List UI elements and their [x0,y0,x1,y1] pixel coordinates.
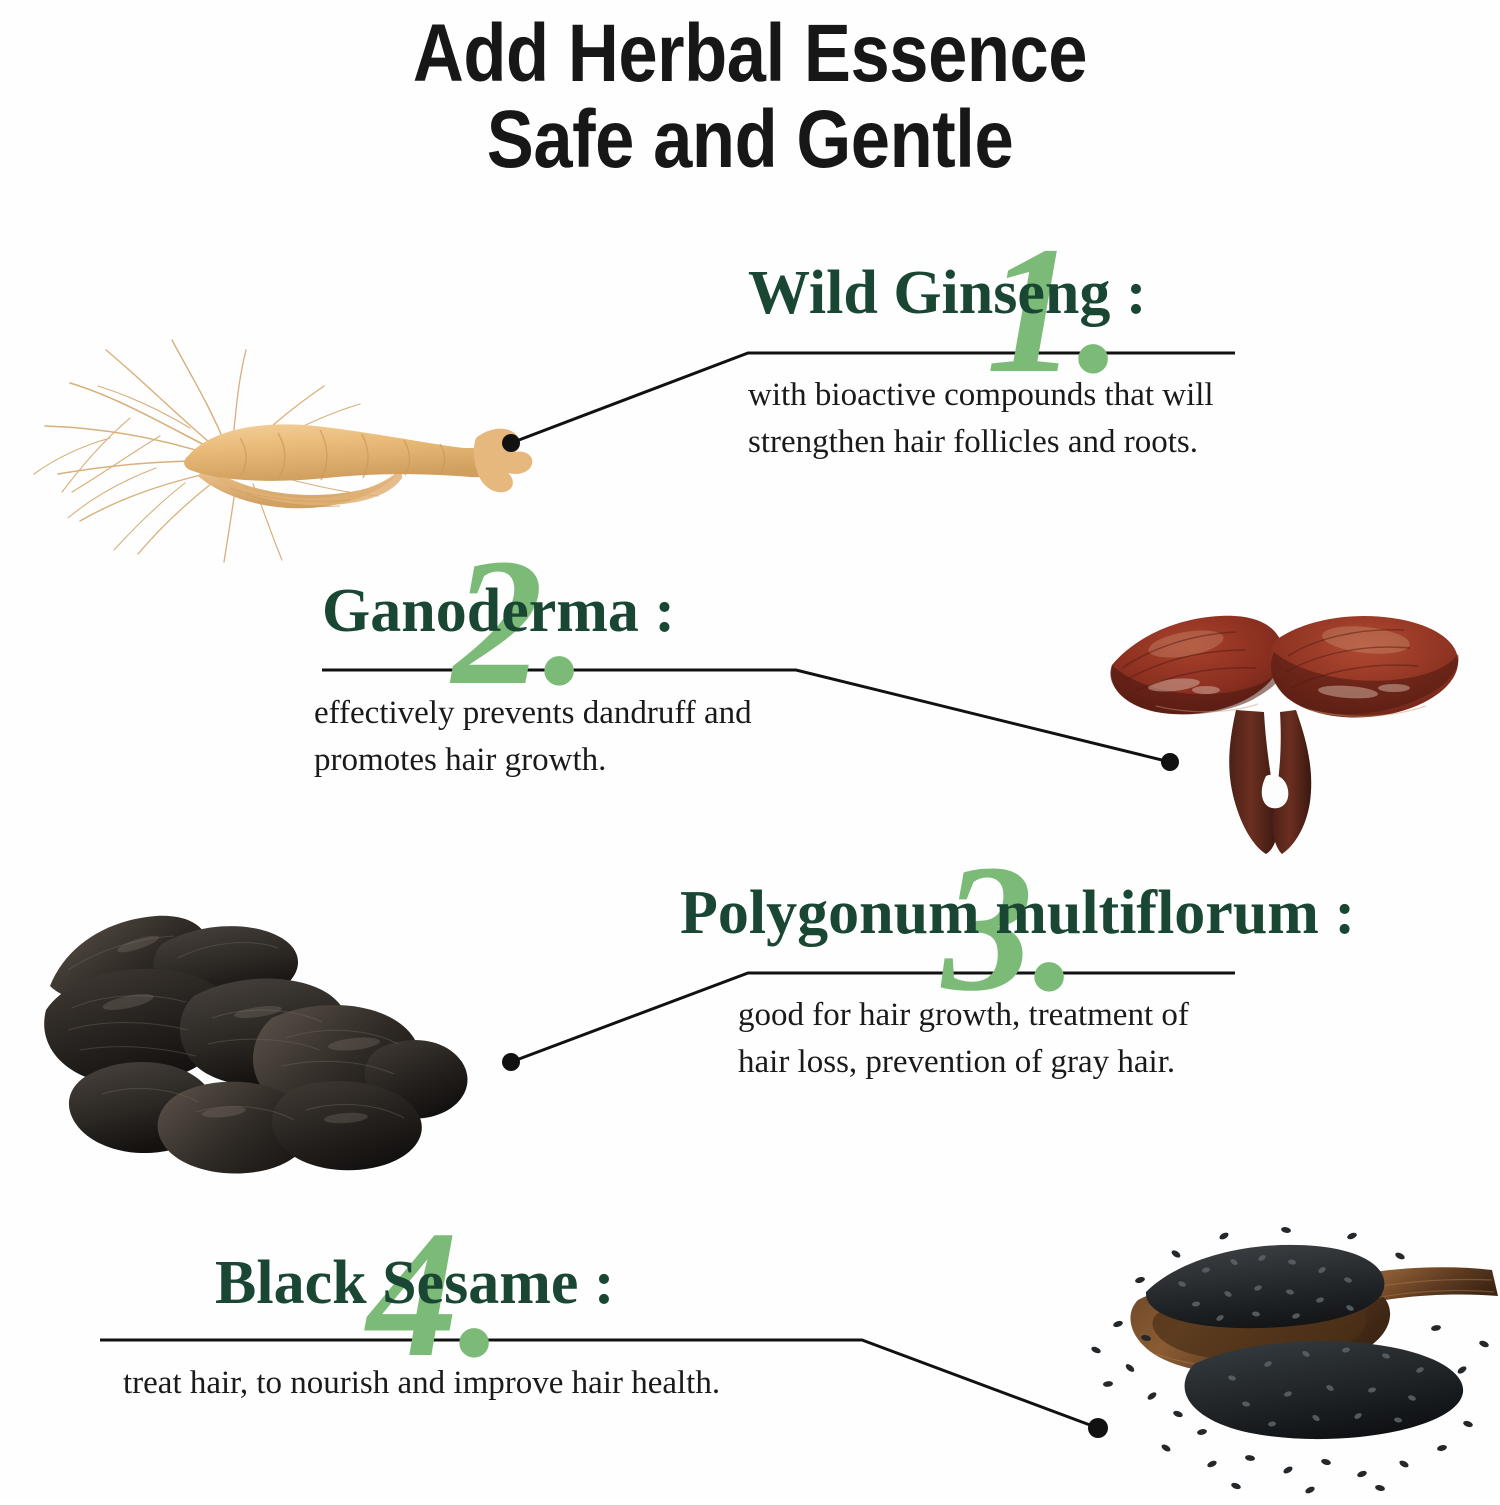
ganoderma-image [1060,560,1500,860]
section-1-description-line-1: with bioactive compounds that will [748,372,1268,419]
section-4-heading-wrap: 4. Black Sesame : [215,1252,835,1314]
section-2-heading-wrap: 2. Ganoderma : [322,580,842,642]
section-1-description-line-2: strengthen hair follicles and roots. [748,419,1268,466]
section-1-description: with bioactive compounds that will stren… [748,372,1268,466]
ingredient-section-1: 1. Wild Ginseng : with bioactive compoun… [748,262,1268,466]
page-title: Add Herbal Essence Safe and Gentle [0,14,1500,181]
title-line-2: Safe and Gentle [105,100,1395,180]
section-2-title: Ganoderma : [322,580,842,642]
ingredient-section-2: 2. Ganoderma : effectively prevents dand… [322,580,842,784]
section-2-description-line-1: effectively prevents dandruff and [314,690,842,737]
section-3-description-line-1: good for hair growth, treatment of [738,992,1470,1039]
section-4-title: Black Sesame : [215,1252,835,1314]
title-line-1: Add Herbal Essence [105,14,1395,94]
black-sesame-image [1000,1218,1500,1500]
section-4-description-line-1: treat hair, to nourish and improve hair … [123,1360,835,1407]
section-2-description: effectively prevents dandruff and promot… [314,690,842,784]
section-1-heading-wrap: 1. Wild Ginseng : [748,262,1268,324]
section-3-heading-wrap: 3. Polygonum multiflorum : [680,882,1470,944]
section-1-title: Wild Ginseng : [748,262,1268,324]
section-3-description-line-2: hair loss, prevention of gray hair. [738,1039,1470,1086]
ingredient-section-4: 4. Black Sesame : treat hair, to nourish… [215,1252,835,1407]
polygonum-multiflorum-image [10,898,550,1198]
section-4-description: treat hair, to nourish and improve hair … [123,1360,835,1407]
section-3-description: good for hair growth, treatment of hair … [738,992,1470,1086]
section-2-description-line-2: promotes hair growth. [314,737,842,784]
ingredient-section-3: 3. Polygonum multiflorum : good for hair… [680,882,1470,1086]
section-3-title: Polygonum multiflorum : [680,882,1470,944]
